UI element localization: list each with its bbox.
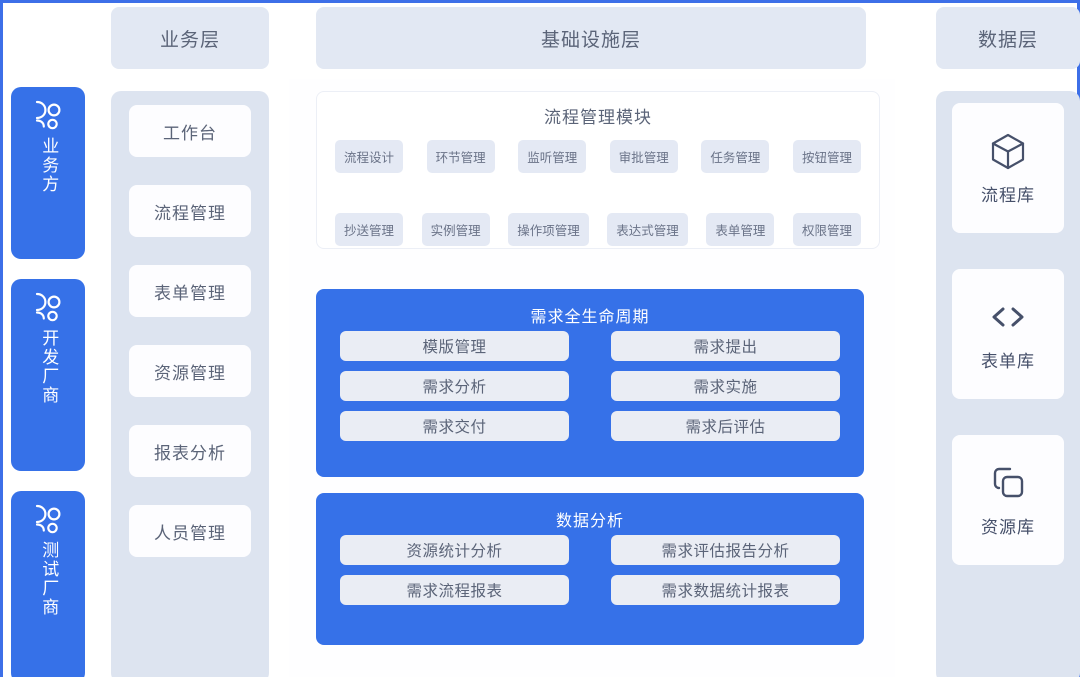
actor-card-development-vendor[interactable]: 开发厂商 — [11, 279, 85, 471]
column-header-data: 数据层 — [936, 7, 1080, 69]
column-header-data-label: 数据层 — [978, 25, 1038, 52]
data-layer-item-label: 资源库 — [981, 513, 1035, 538]
process-tag-cc-management[interactable]: 抄送管理 — [335, 213, 403, 246]
column-header-business-label: 业务层 — [160, 25, 220, 52]
business-layer-column: 工作台 流程管理 表单管理 资源管理 报表分析 人员管理 — [111, 91, 269, 677]
business-layer-item-form-management[interactable]: 表单管理 — [129, 265, 251, 317]
process-tag-listener-management[interactable]: 监听管理 — [518, 140, 586, 173]
data-analysis-card: 数据分析 资源统计分析 需求评估报告分析 需求流程报表 需求数据统计报表 — [316, 493, 864, 645]
business-layer-item-personnel-management[interactable]: 人员管理 — [129, 505, 251, 557]
data-layer-item-process-library[interactable]: 流程库 — [952, 103, 1064, 233]
demand-lifecycle-title: 需求全生命周期 — [316, 289, 864, 331]
process-tag-flow-design[interactable]: 流程设计 — [335, 140, 403, 173]
process-tag-task-management[interactable]: 任务管理 — [701, 140, 769, 173]
actor-rail: 业务方 开发厂商 测试厂商 — [11, 87, 87, 677]
data-analysis-title: 数据分析 — [316, 493, 864, 535]
process-tag-form-management[interactable]: 表单管理 — [706, 213, 774, 246]
architecture-diagram: 业务层 基础设施层 数据层 业务方 — [0, 0, 1080, 677]
people-icon — [33, 291, 63, 325]
code-brackets-icon — [988, 297, 1028, 337]
data-layer-column: 流程库 表单库 资源库 — [936, 91, 1080, 677]
lifecycle-item-demand-implementation[interactable]: 需求实施 — [611, 371, 840, 401]
copy-icon — [988, 463, 1028, 503]
data-analysis-grid: 资源统计分析 需求评估报告分析 需求流程报表 需求数据统计报表 — [316, 535, 864, 605]
business-layer-item-report-analysis[interactable]: 报表分析 — [129, 425, 251, 477]
people-icon — [33, 99, 63, 133]
actor-card-label: 业务方 — [37, 137, 59, 194]
data-layer-item-label: 流程库 — [981, 181, 1035, 206]
business-layer-item-label: 人员管理 — [154, 519, 226, 544]
lifecycle-item-demand-submission[interactable]: 需求提出 — [611, 331, 840, 361]
column-header-infrastructure: 基础设施层 — [316, 7, 866, 69]
infrastructure-layer-column: 流程管理模块 流程设计 环节管理 监听管理 审批管理 任务管理 按钮管理 抄送管… — [289, 79, 895, 677]
process-tag-instance-management[interactable]: 实例管理 — [422, 213, 490, 246]
lifecycle-item-demand-post-evaluation[interactable]: 需求后评估 — [611, 411, 840, 441]
process-tag-row: 抄送管理 实例管理 操作项管理 表达式管理 表单管理 权限管理 — [317, 213, 879, 246]
actor-card-business-party[interactable]: 业务方 — [11, 87, 85, 259]
business-layer-item-label: 资源管理 — [154, 359, 226, 384]
demand-lifecycle-card: 需求全生命周期 模版管理 需求提出 需求分析 需求实施 需求交付 需求后评估 — [316, 289, 864, 477]
process-tag-expression-management[interactable]: 表达式管理 — [607, 213, 688, 246]
data-layer-item-form-library[interactable]: 表单库 — [952, 269, 1064, 399]
people-icon — [33, 503, 63, 537]
process-tag-row: 流程设计 环节管理 监听管理 审批管理 任务管理 按钮管理 — [317, 140, 879, 173]
business-layer-item-resource-management[interactable]: 资源管理 — [129, 345, 251, 397]
business-layer-item-label: 报表分析 — [154, 439, 226, 464]
process-management-module-card: 流程管理模块 流程设计 环节管理 监听管理 审批管理 任务管理 按钮管理 抄送管… — [316, 91, 880, 249]
analysis-item-demand-data-statistics-report[interactable]: 需求数据统计报表 — [611, 575, 840, 605]
process-management-module-title: 流程管理模块 — [317, 92, 879, 128]
column-header-infrastructure-label: 基础设施层 — [541, 25, 641, 52]
business-layer-item-label: 流程管理 — [154, 199, 226, 224]
analysis-item-resource-statistics[interactable]: 资源统计分析 — [340, 535, 569, 565]
process-tag-node-management[interactable]: 环节管理 — [427, 140, 495, 173]
analysis-item-demand-process-report[interactable]: 需求流程报表 — [340, 575, 569, 605]
column-header-business: 业务层 — [111, 7, 269, 69]
lifecycle-item-template-management[interactable]: 模版管理 — [340, 331, 569, 361]
cube-icon — [988, 131, 1028, 171]
business-layer-item-label: 工作台 — [163, 119, 217, 144]
demand-lifecycle-grid: 模版管理 需求提出 需求分析 需求实施 需求交付 需求后评估 — [316, 331, 864, 441]
process-tag-button-management[interactable]: 按钮管理 — [793, 140, 861, 173]
actor-card-label: 测试厂商 — [37, 541, 59, 617]
business-layer-item-process-management[interactable]: 流程管理 — [129, 185, 251, 237]
process-tag-permission-management[interactable]: 权限管理 — [793, 213, 861, 246]
analysis-item-demand-evaluation-report[interactable]: 需求评估报告分析 — [611, 535, 840, 565]
business-layer-item-label: 表单管理 — [154, 279, 226, 304]
data-layer-item-label: 表单库 — [981, 347, 1035, 372]
process-tag-approval-management[interactable]: 审批管理 — [610, 140, 678, 173]
lifecycle-item-demand-analysis[interactable]: 需求分析 — [340, 371, 569, 401]
process-tag-operation-item-management[interactable]: 操作项管理 — [508, 213, 589, 246]
actor-card-testing-vendor[interactable]: 测试厂商 — [11, 491, 85, 677]
business-layer-item-workbench[interactable]: 工作台 — [129, 105, 251, 157]
lifecycle-item-demand-delivery[interactable]: 需求交付 — [340, 411, 569, 441]
data-layer-item-resource-library[interactable]: 资源库 — [952, 435, 1064, 565]
actor-card-label: 开发厂商 — [37, 329, 59, 405]
